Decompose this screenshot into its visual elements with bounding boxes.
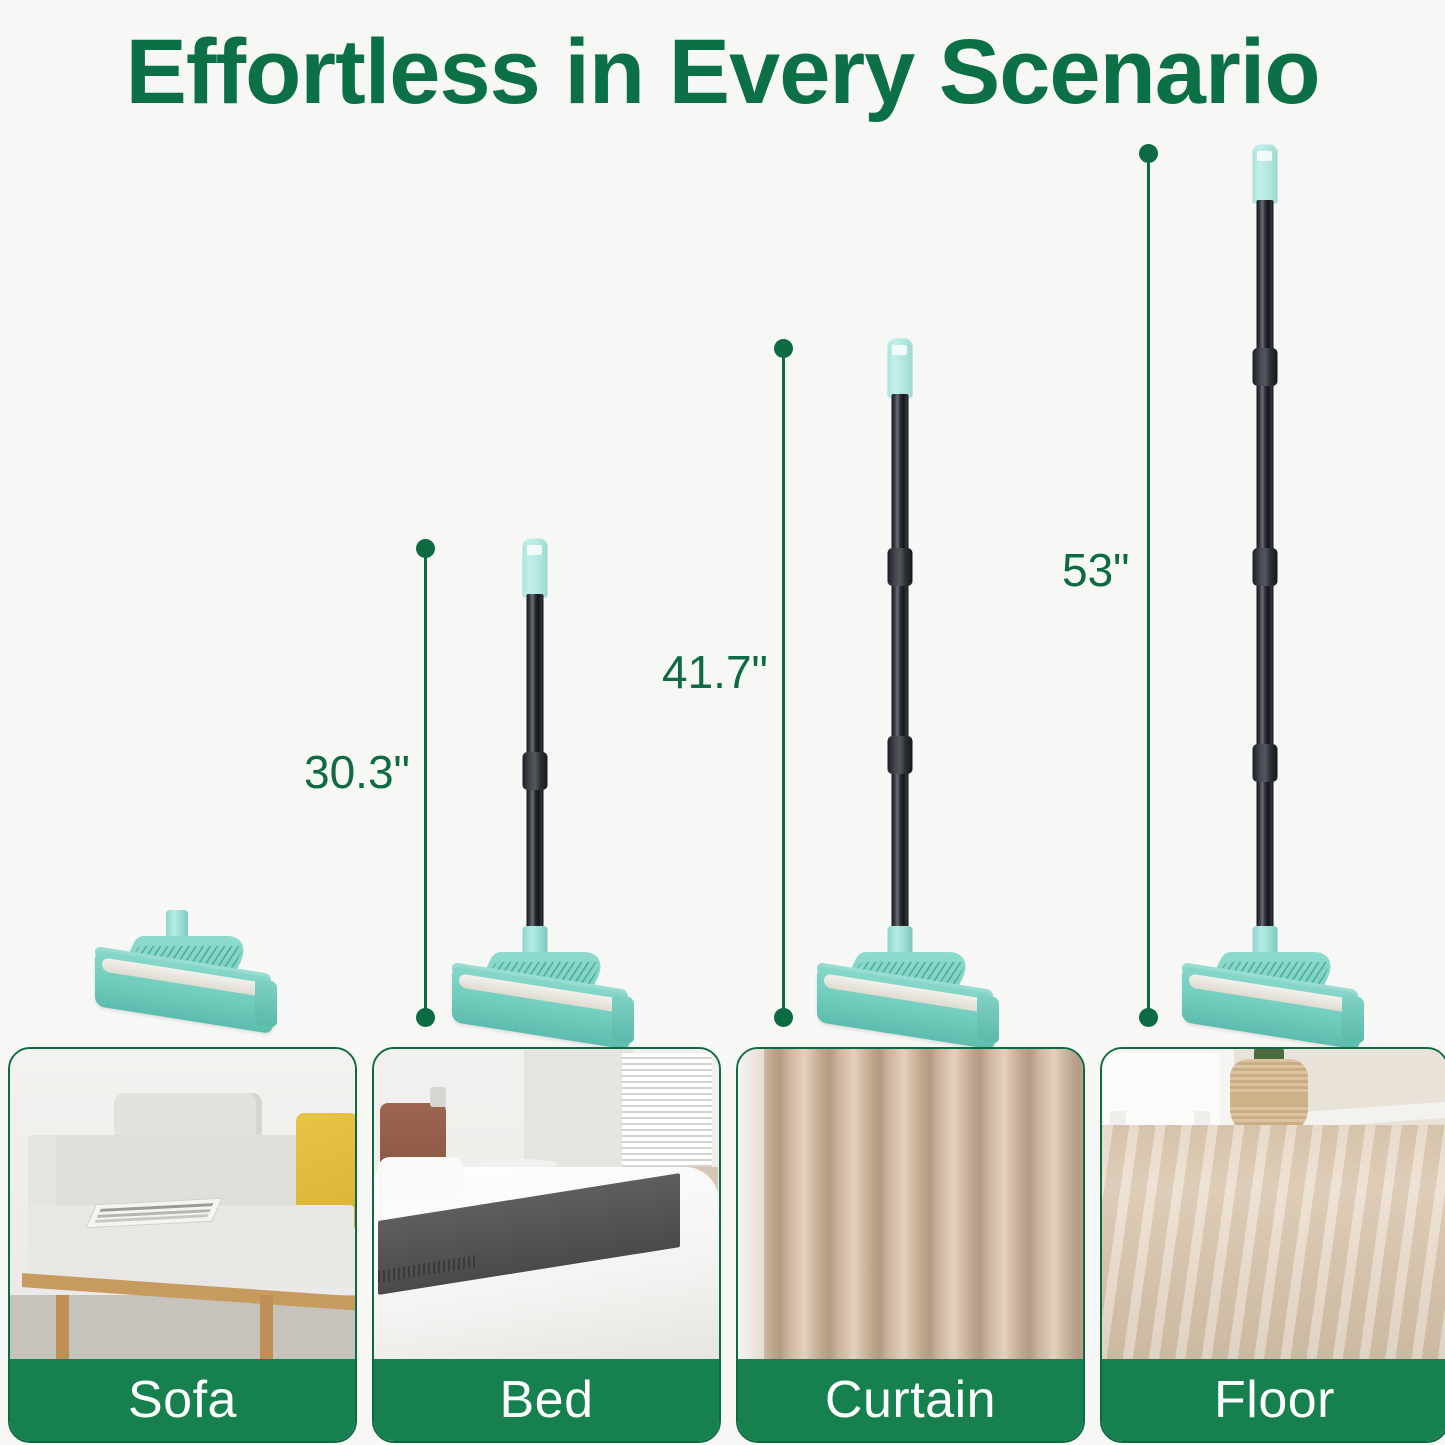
- handle-grip-cap: [887, 338, 913, 398]
- telescoping-pole: [892, 394, 909, 940]
- product-variant-short: [455, 538, 655, 1038]
- scenario-photo-sofa: [10, 1049, 355, 1361]
- head-end-cap: [612, 994, 634, 1043]
- bed-pillow: [378, 1157, 464, 1201]
- scenario-card-row: Sofa Bed: [0, 1047, 1445, 1445]
- floor-basket-band: [1230, 1093, 1308, 1105]
- page-title: Effortless in Every Scenario: [0, 24, 1445, 121]
- floor-wood-surface: [1102, 1125, 1445, 1361]
- sofa-leg-right: [260, 1295, 273, 1361]
- scenario-photo-bed: [374, 1049, 719, 1361]
- scenario-photo-floor: [1102, 1049, 1445, 1361]
- scenario-card-sofa[interactable]: Sofa: [8, 1047, 357, 1443]
- pole-collar-1: [523, 752, 548, 790]
- pole-collar-1: [1253, 348, 1278, 386]
- scenario-card-bed[interactable]: Bed: [372, 1047, 721, 1443]
- curtain-folds: [738, 1049, 1083, 1361]
- handle-grip-cap: [1252, 144, 1278, 204]
- dimension-dot-bottom-long: [1139, 1008, 1158, 1027]
- scenario-caption-floor: Floor: [1102, 1359, 1445, 1441]
- bed-window-blinds: [622, 1053, 712, 1171]
- product-variant-head-only: [95, 910, 295, 1040]
- dimension-line-medium: [782, 348, 785, 1017]
- pole-collar-2: [1253, 548, 1278, 586]
- product-size-comparison: 30.3" 41.7" 53": [0, 120, 1445, 1045]
- sofa-leg-left: [56, 1295, 69, 1361]
- head-end-cap: [255, 978, 277, 1027]
- sofa-bolster-cushion: [114, 1093, 262, 1141]
- product-variant-medium: [820, 338, 1020, 1038]
- bed-wall-sconce: [430, 1087, 446, 1107]
- scenario-caption-curtain: Curtain: [738, 1359, 1083, 1441]
- product-variant-long: [1185, 144, 1385, 1038]
- curtain-wall-edge: [738, 1049, 764, 1361]
- scenario-caption-sofa: Sofa: [10, 1359, 355, 1441]
- handle-grip-cap: [522, 538, 548, 598]
- dimension-label-long: 53": [1062, 543, 1130, 597]
- dimension-label-short: 30.3": [304, 745, 410, 799]
- dimension-dot-bottom-medium: [774, 1008, 793, 1027]
- infographic-root: Effortless in Every Scenario 30.3" 41.7"…: [0, 0, 1445, 1445]
- head-end-cap: [1342, 994, 1364, 1043]
- scenario-card-curtain[interactable]: Curtain: [736, 1047, 1085, 1443]
- scenario-photo-curtain: [738, 1049, 1083, 1361]
- pole-collar-1: [888, 548, 913, 586]
- dimension-dot-bottom-short: [416, 1008, 435, 1027]
- scenario-caption-bed: Bed: [374, 1359, 719, 1441]
- dimension-label-medium: 41.7": [662, 645, 768, 699]
- floor-wood-grain: [1102, 1125, 1445, 1361]
- scenario-card-floor[interactable]: Floor: [1100, 1047, 1445, 1443]
- dimension-line-short: [424, 548, 427, 1017]
- dimension-line-long: [1147, 153, 1150, 1017]
- pole-collar-2: [888, 736, 913, 774]
- pole-collar-3: [1253, 744, 1278, 782]
- head-end-cap: [977, 994, 999, 1043]
